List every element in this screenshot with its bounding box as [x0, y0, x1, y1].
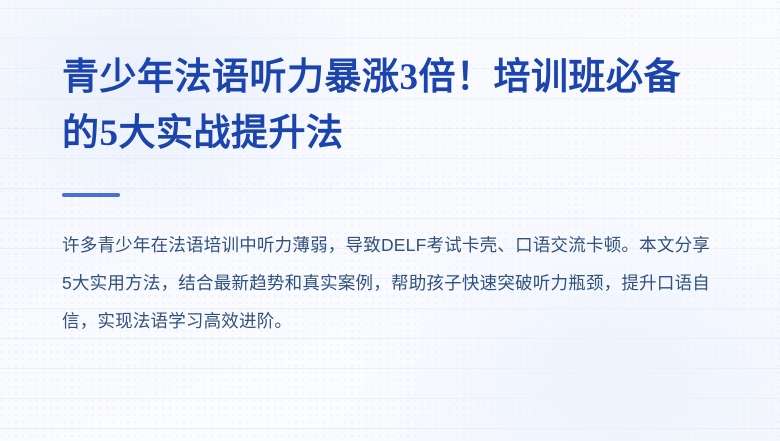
page-title: 青少年法语听力暴涨3倍！培训班必备的5大实战提升法 [62, 0, 718, 162]
card-content: 青少年法语听力暴涨3倍！培训班必备的5大实战提升法 许多青少年在法语培训中听力薄… [0, 0, 780, 340]
article-cover-card: 青少年法语听力暴涨3倍！培训班必备的5大实战提升法 许多青少年在法语培训中听力薄… [0, 0, 780, 441]
article-summary: 许多青少年在法语培训中听力薄弱，导致DELF考试卡壳、口语交流卡顿。本文分享5大… [62, 197, 710, 340]
